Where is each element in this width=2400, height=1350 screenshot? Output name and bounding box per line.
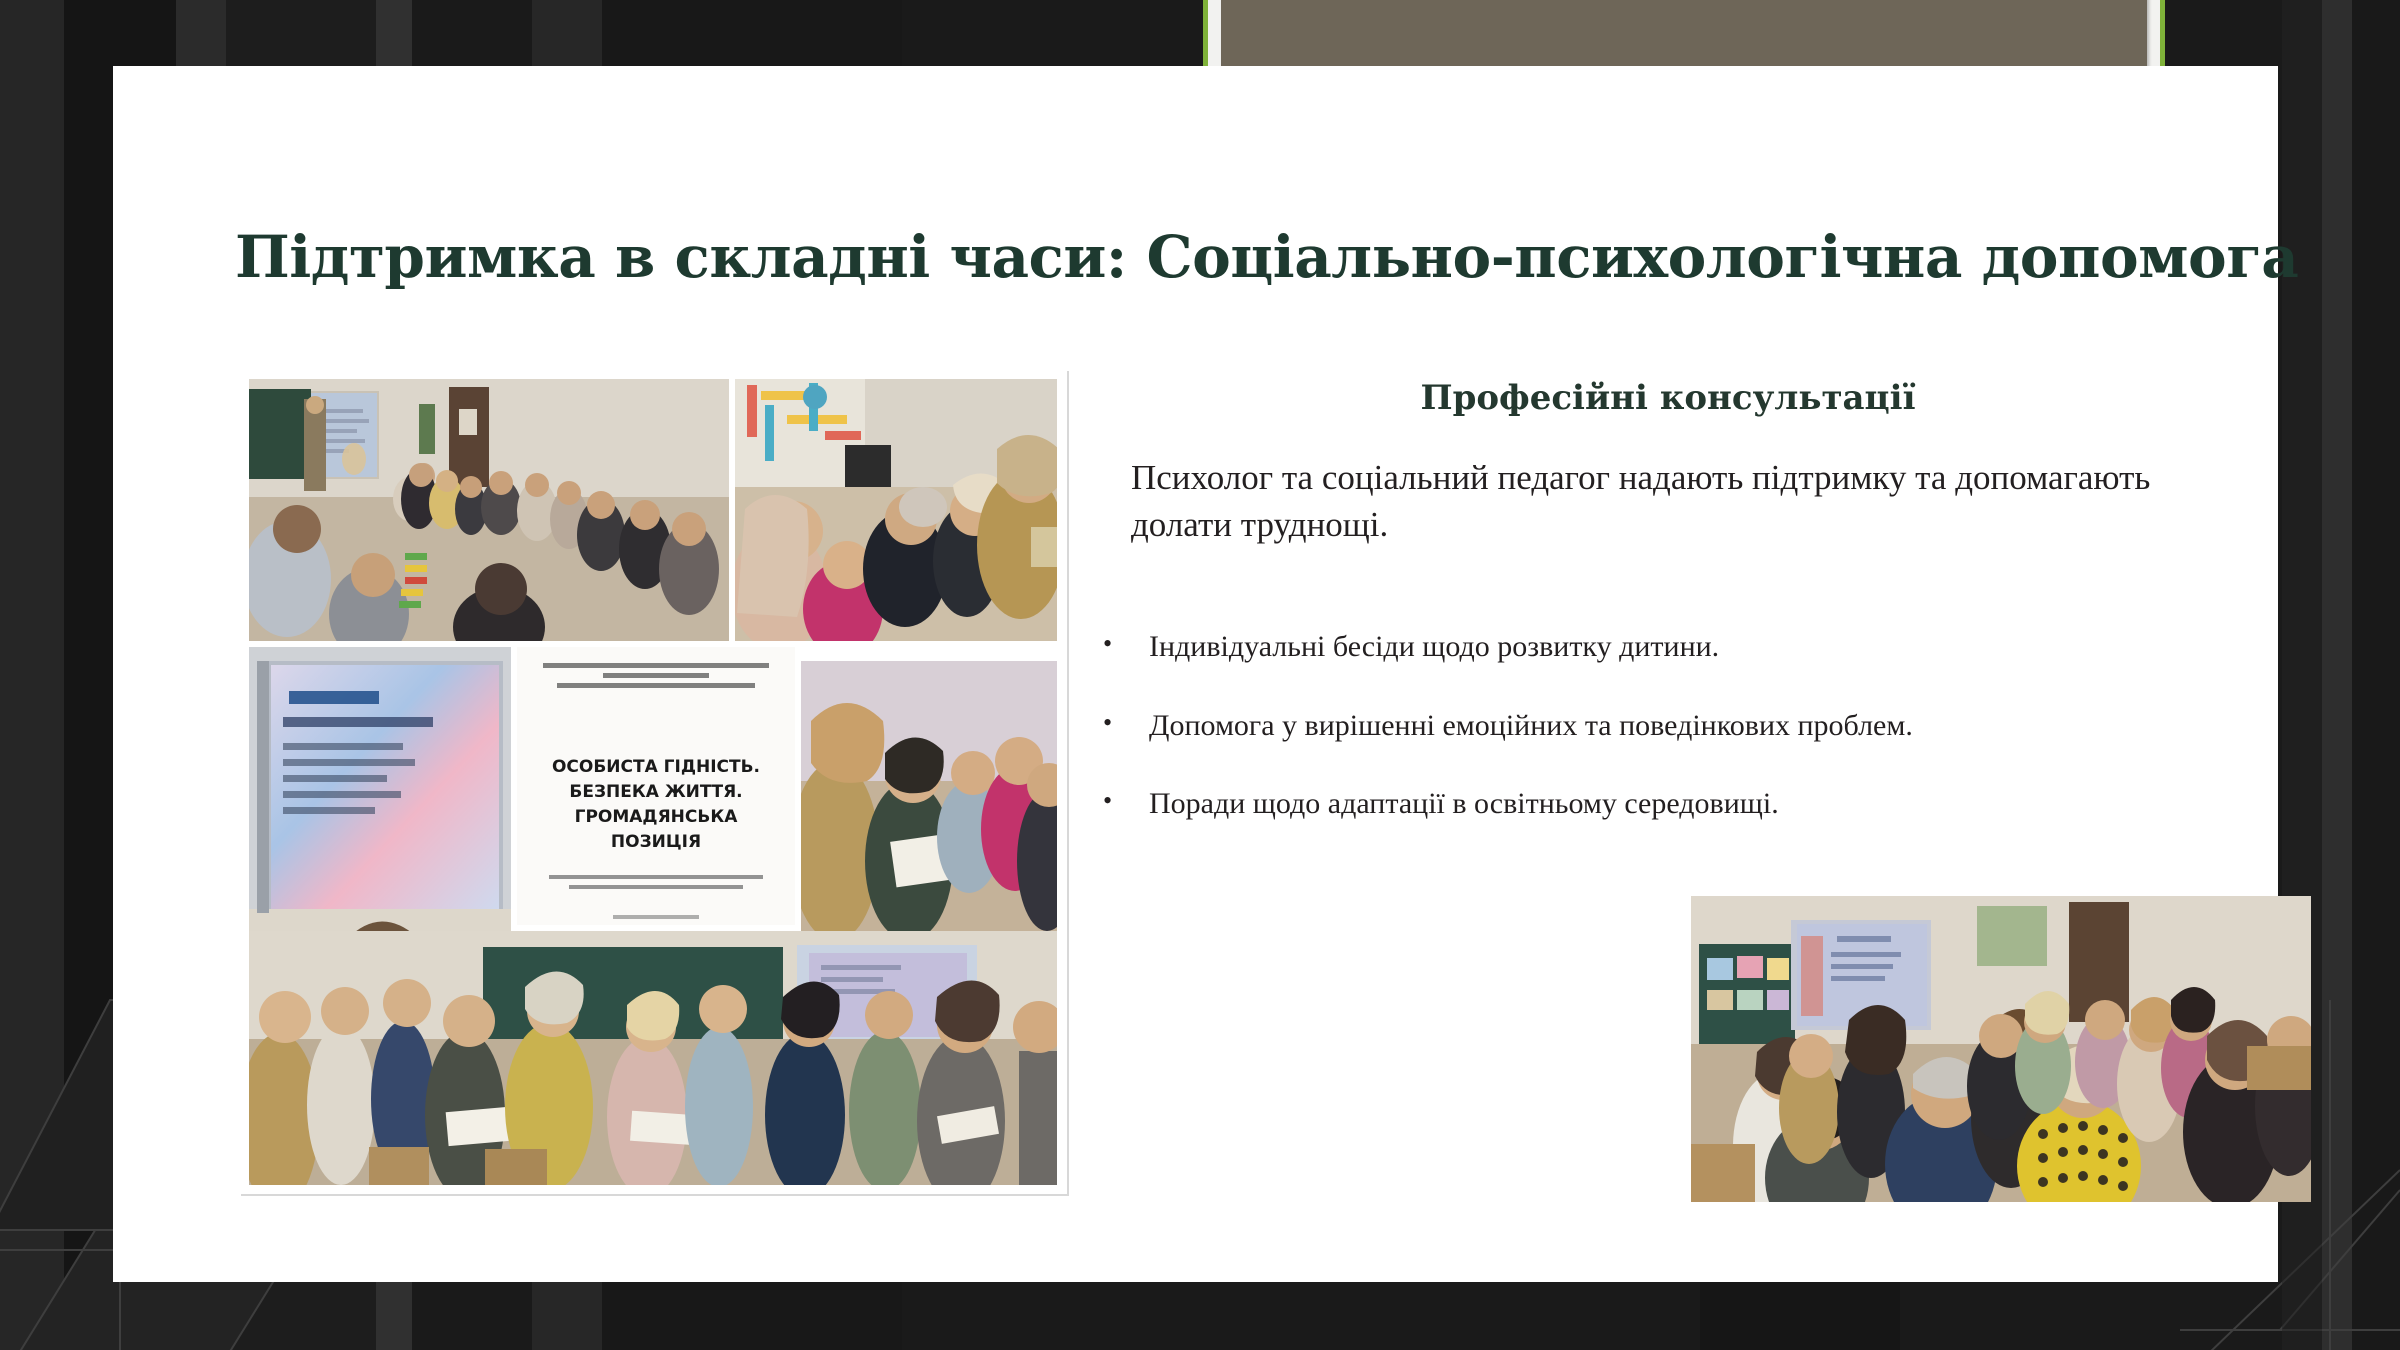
- photo-teachers-group-discussion: [1691, 896, 2311, 1202]
- svg-text:ОСОБИСТА ГІДНІСТЬ.: ОСОБИСТА ГІДНІСТЬ.: [552, 757, 760, 777]
- photo-methodical-guide-cover: ОСОБИСТА ГІДНІСТЬ. БЕЗПЕКА ЖИТТЯ. ГРОМАД…: [517, 647, 795, 925]
- svg-text:ПОЗИЦІЯ: ПОЗИЦІЯ: [611, 832, 701, 852]
- photo-group-with-handouts: [801, 661, 1057, 933]
- bullet-marker-icon: •: [1103, 626, 1149, 663]
- lead-paragraph: Психолог та соціальний педагог надають п…: [1131, 454, 2151, 549]
- list-item: •Допомога у вирішенні емоційних та повед…: [1103, 705, 2163, 748]
- svg-text:ГРОМАДЯНСЬКА: ГРОМАДЯНСЬКА: [575, 807, 739, 827]
- list-item-label: Індивідуальні бесіди щодо розвитку дитин…: [1149, 630, 1719, 663]
- list-item-label: Поради щодо адаптації в освітньому серед…: [1149, 787, 1779, 820]
- bullet-marker-icon: •: [1103, 705, 1149, 742]
- bullet-marker-icon: •: [1103, 783, 1149, 820]
- photo-training-circle-classroom: [249, 379, 729, 641]
- list-item: •Індивідуальні бесіди щодо розвитку дити…: [1103, 626, 2163, 669]
- list-item-label: Допомога у вирішенні емоційних та поведі…: [1149, 709, 1913, 742]
- page-title: Підтримка в складні часи: Соціально-псих…: [235, 226, 2245, 290]
- photo-participants-seated-closeup: [735, 379, 1057, 641]
- bullet-list: •Індивідуальні бесіди щодо розвитку дити…: [1103, 626, 2163, 826]
- svg-text:БЕЗПЕКА ЖИТТЯ.: БЕЗПЕКА ЖИТТЯ.: [569, 782, 742, 802]
- photo-collage: ОСОБИСТА ГІДНІСТЬ. БЕЗПЕКА ЖИТТЯ. ГРОМАД…: [241, 371, 1069, 1196]
- section-heading: Професійні консультації: [1318, 378, 2018, 418]
- photo-group-standing-circle: [249, 931, 1057, 1185]
- presentation-slide: Підтримка в складні часи: Соціально-псих…: [113, 66, 2278, 1282]
- list-item: •Поради щодо адаптації в освітньому сере…: [1103, 783, 2163, 826]
